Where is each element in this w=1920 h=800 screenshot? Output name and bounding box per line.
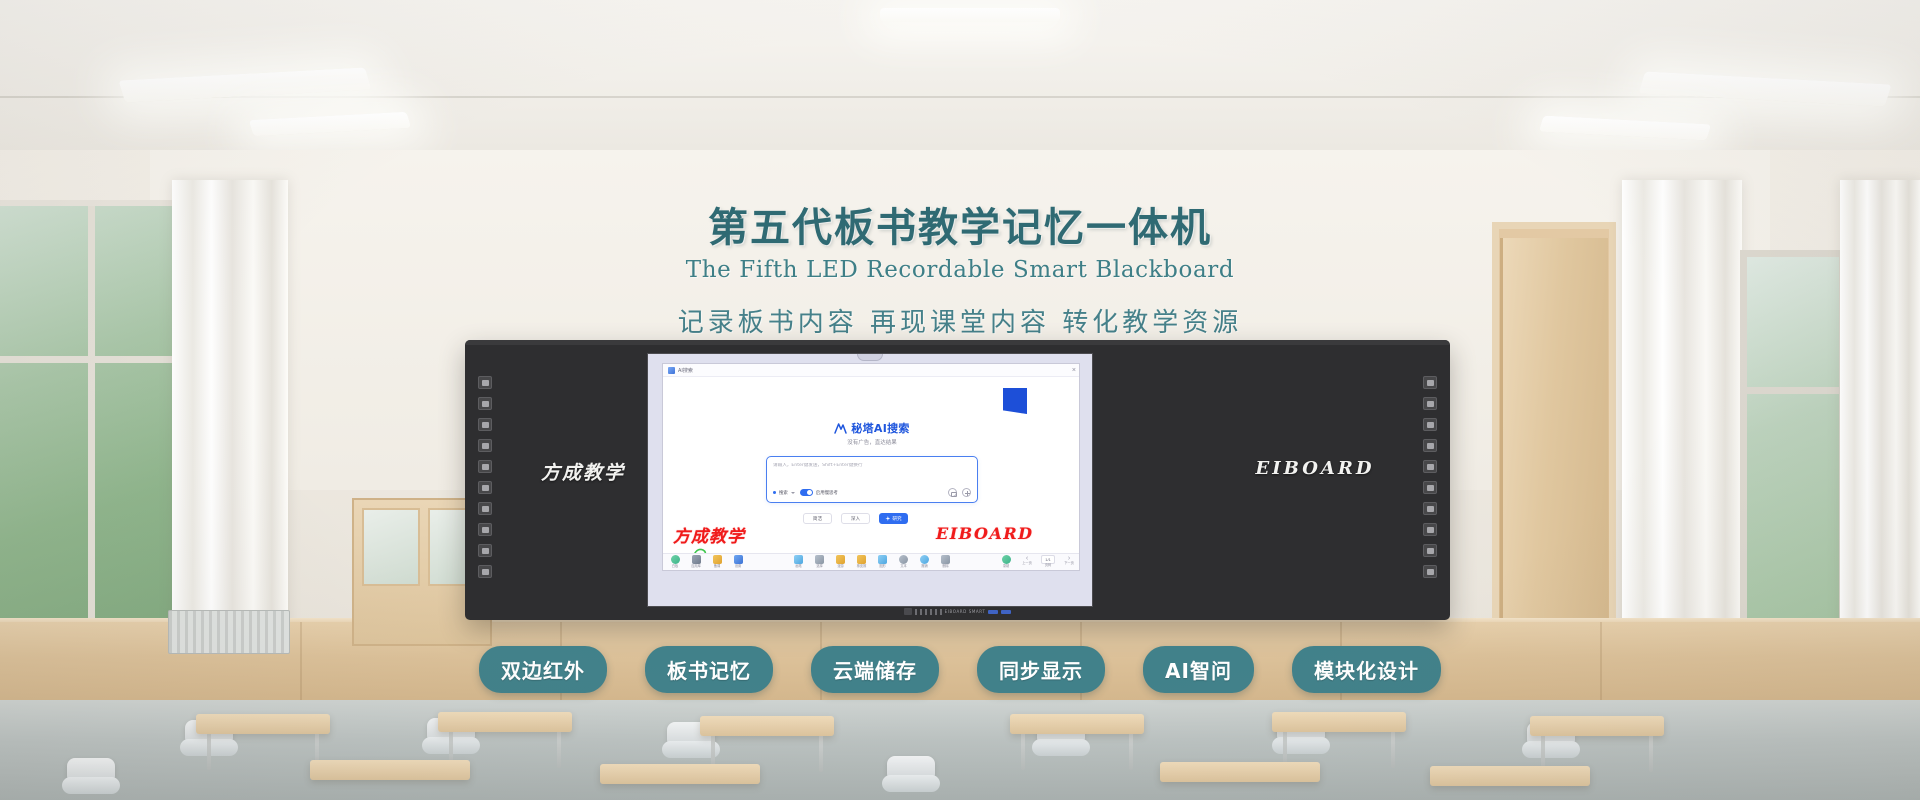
blue-indicator	[988, 610, 998, 614]
cabinet-glass-pane	[362, 508, 420, 586]
toolbar-item[interactable]: 删除	[939, 555, 953, 568]
handwriting-annotation-english: EIBOARD	[936, 524, 1034, 543]
toolbar-item[interactable]: 录制	[999, 555, 1013, 568]
app-title-bar: AI搜索 ×	[663, 364, 1080, 377]
student-desk	[310, 760, 470, 780]
hdmi-icon[interactable]	[478, 523, 492, 536]
next-page-button[interactable]: ›下一页	[1062, 555, 1076, 565]
usb-icon[interactable]	[1423, 481, 1437, 494]
brand-lockup: 秘塔AI搜索	[663, 420, 1080, 436]
record-icon[interactable]	[478, 460, 492, 473]
student-desk	[700, 716, 834, 736]
search-options-row: 搜索 启用慢思考	[773, 488, 971, 497]
logo-chip-icon	[904, 608, 912, 615]
feature-badge-sync-display[interactable]: 同步显示	[977, 646, 1105, 693]
brand-strip-text: EIBOARD SMART	[945, 609, 986, 614]
toolbar-item[interactable]: 设置	[731, 555, 745, 568]
hdmi-icon[interactable]	[1423, 523, 1437, 536]
student-desk	[1010, 714, 1144, 734]
ai-search-app-window[interactable]: AI搜索 × 秘塔AI搜索 没有广告，直达结果 请输入，Enter键发送，Shi…	[662, 363, 1080, 571]
student-desk	[438, 712, 572, 732]
door[interactable]	[1500, 238, 1608, 632]
ceiling-light	[880, 8, 1060, 22]
blackboard-top-bezel	[465, 340, 1450, 345]
toolbar-item[interactable]: 备课	[710, 555, 724, 568]
action-button-research[interactable]: 研究	[879, 513, 908, 524]
toolbar-item[interactable]: 选择	[813, 555, 827, 568]
app-favicon-icon	[668, 367, 675, 374]
search-input-placeholder[interactable]: 请输入，Enter键发送，Shift+Enter键换行	[773, 463, 971, 469]
sparkle-icon	[885, 516, 890, 521]
toolbar-left-group: 白板 应用库 备课 设置	[668, 555, 745, 568]
student-desk	[600, 764, 760, 784]
close-icon[interactable]: ×	[1072, 367, 1076, 374]
blackboard-left-brand: 方成教学	[493, 458, 673, 485]
student-desk	[1530, 716, 1664, 736]
feature-badge-board-memory[interactable]: 板书记忆	[645, 646, 773, 693]
network-icon[interactable]	[478, 544, 492, 557]
left-window	[0, 200, 180, 670]
handwriting-annotation-chinese: 方成教学	[673, 522, 745, 547]
right-io-icon-column	[1422, 376, 1438, 578]
toolbar-item[interactable]: 画笔	[792, 555, 806, 568]
led-display-screen[interactable]: AI搜索 × 秘塔AI搜索 没有广告，直达结果 请输入，Enter键发送，Shi…	[647, 353, 1093, 607]
usb-icon[interactable]	[478, 481, 492, 494]
ceiling-seam	[0, 96, 1920, 98]
metaso-logo-icon	[834, 423, 847, 434]
blue-indicator	[1001, 610, 1011, 614]
smart-blackboard: 方成教学 EIBOARD AI搜索 × 秘塔AI搜索	[465, 340, 1450, 620]
chair	[60, 758, 122, 798]
toolbar-item[interactable]: 应用库	[689, 555, 703, 568]
feature-badge-modular-design[interactable]: 模块化设计	[1292, 646, 1441, 693]
blackboard-brand-strip: EIBOARD SMART	[843, 607, 1073, 616]
stop-icon[interactable]	[478, 502, 492, 515]
slow-thinking-label: 启用慢思考	[816, 490, 838, 496]
curtain-far-right	[1840, 180, 1920, 650]
toolbar-item[interactable]: 漫游	[834, 555, 848, 568]
action-button-deep[interactable]: 深入	[841, 513, 870, 524]
student-desk	[196, 714, 330, 734]
camera-notch	[857, 354, 883, 361]
pen-icon[interactable]	[478, 397, 492, 410]
search-box[interactable]: 请输入，Enter键发送，Shift+Enter键换行 搜索 启用慢思考	[766, 456, 978, 503]
blue-flag-graphic	[1003, 388, 1027, 414]
toolbar-item[interactable]: 图形	[876, 555, 890, 568]
prev-page-button[interactable]: ‹上一页	[1020, 555, 1034, 565]
record-icon[interactable]	[1423, 460, 1437, 473]
search-action-buttons: 简洁 深入 研究	[803, 513, 908, 524]
pen-alt-icon[interactable]	[478, 418, 492, 431]
search-mode-label[interactable]: 搜索	[779, 490, 788, 496]
toolbar-right-group: 录制 ‹上一页 1/1页码 ›下一页	[999, 555, 1076, 568]
toolbar-item[interactable]: 文本	[897, 555, 911, 568]
toolbar-item[interactable]: 白板	[668, 555, 682, 568]
app-window-title: AI搜索	[678, 367, 693, 374]
chevron-down-icon[interactable]	[791, 492, 795, 494]
slow-thinking-toggle[interactable]	[800, 489, 813, 496]
feature-badge-row: 双边红外 板书记忆 云端储存 同步显示 AI智问 模块化设计	[0, 646, 1920, 693]
page-icon[interactable]	[1423, 439, 1437, 452]
toolbar-item[interactable]: 撤销	[918, 555, 932, 568]
brand-name: 秘塔AI搜索	[851, 420, 909, 436]
camera-icon[interactable]	[948, 488, 957, 497]
feature-badge-ai-ask[interactable]: AI智问	[1143, 646, 1254, 693]
stop-icon[interactable]	[1423, 502, 1437, 515]
mode-dot-icon	[773, 491, 776, 494]
feature-badge-cloud-storage[interactable]: 云端储存	[811, 646, 939, 693]
plus-icon[interactable]	[962, 488, 971, 497]
display-port-icon[interactable]	[478, 376, 492, 389]
network-icon[interactable]	[1423, 544, 1437, 557]
app-toolbar: 白板 应用库 备课 设置 画笔 选择 漫游 橡皮擦 图形 文本 撤销 删除	[663, 553, 1080, 570]
page-icon[interactable]	[478, 439, 492, 452]
feature-badge-dual-infrared[interactable]: 双边红外	[479, 646, 607, 693]
display-port-icon[interactable]	[1423, 376, 1437, 389]
classroom-scene: 第五代板书教学记忆一体机 The Fifth LED Recordable Sm…	[0, 0, 1920, 800]
student-desk	[1430, 766, 1590, 786]
action-button-concise[interactable]: 简洁	[803, 513, 832, 524]
toolbar-center-group: 画笔 选择 漫游 橡皮擦 图形 文本 撤销 删除	[792, 555, 953, 568]
curtain-right	[1622, 180, 1742, 650]
student-desk	[1160, 762, 1320, 782]
power-icon[interactable]	[478, 565, 492, 578]
curtain-left	[172, 180, 288, 650]
pen-alt-icon[interactable]	[1423, 418, 1437, 431]
chair	[880, 756, 942, 796]
blackboard-right-brand: EIBOARD	[1225, 458, 1405, 479]
toolbar-item[interactable]: 橡皮擦	[855, 555, 869, 568]
power-icon[interactable]	[1423, 565, 1437, 578]
pen-icon[interactable]	[1423, 397, 1437, 410]
left-io-icon-column	[477, 376, 493, 578]
brand-tagline: 没有广告，直达结果	[663, 438, 1080, 446]
student-desk	[1272, 712, 1406, 732]
page-indicator: 1/1页码	[1041, 555, 1055, 567]
